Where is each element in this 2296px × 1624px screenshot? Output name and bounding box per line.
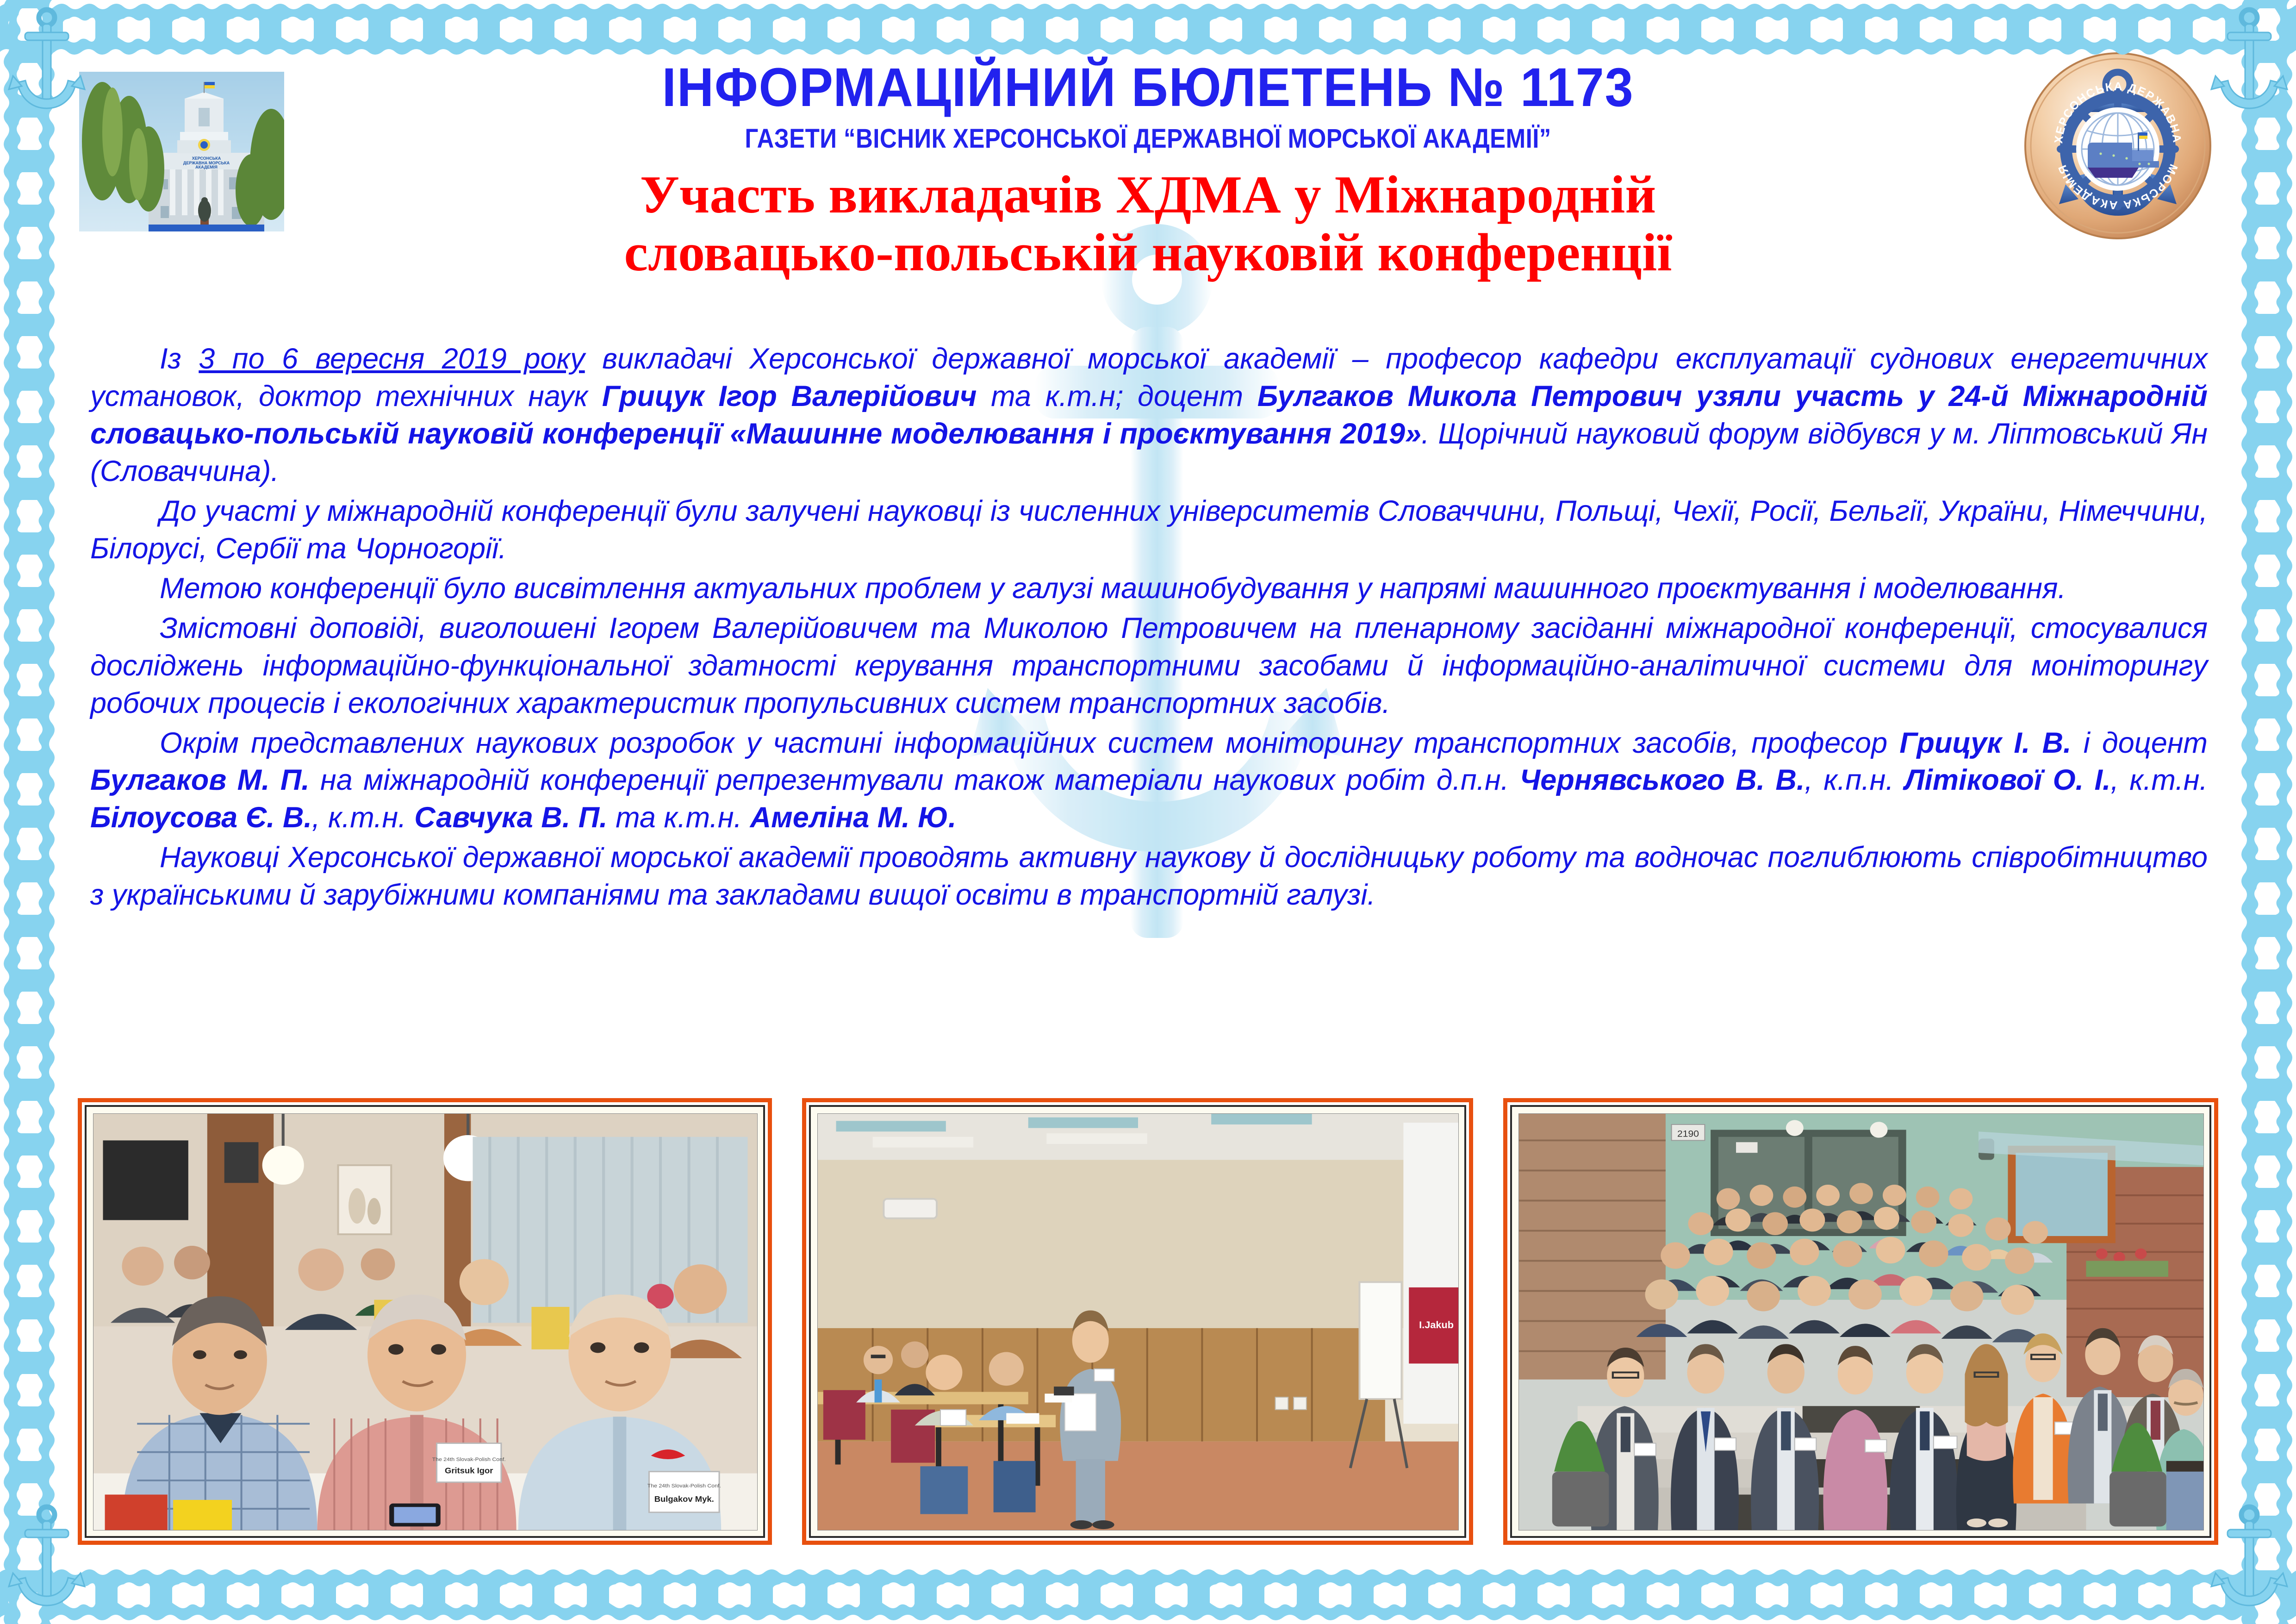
p5-person-chernyavskyi: Чернявського В. В. xyxy=(1520,764,1805,796)
svg-text:I.Jakub: I.Jakub xyxy=(1419,1319,1454,1330)
svg-text:The 24th Slovak-Polish Conf.: The 24th Slovak-Polish Conf. xyxy=(432,1456,506,1462)
p5-start: Окрім представлених наукових розробок у … xyxy=(160,727,1899,759)
p5-person-amelin: Амеліна М. Ю. xyxy=(750,801,957,834)
credit-rest: ЕДАКЦІЙНО-ВИДАВНИЧИЙ ВІДДІЛ xyxy=(1826,1590,2148,1611)
p5-m1: і доцент xyxy=(2072,727,2208,759)
credit-capital: Р xyxy=(1811,1587,1826,1612)
article-headline: Участь викладачів ХДМА у Міжнародній сло… xyxy=(296,166,2000,282)
bulletin-number-title: ІНФОРМАЦІЙНИЙ БЮЛЕТЕНЬ № 1173 xyxy=(356,60,1940,115)
p1-date-range: 3 по 6 вересня 2019 року xyxy=(199,343,585,375)
svg-text:ХЕРСОНСЬКА: ХЕРСОНСЬКА xyxy=(192,156,221,161)
p1-lead: Із xyxy=(160,343,199,375)
paragraph-5: Окрім представлених наукових розробок у … xyxy=(90,725,2208,837)
svg-text:The 24th Slovak-Polish Conf.: The 24th Slovak-Polish Conf. xyxy=(647,1483,721,1489)
p5-m6: та к.т.н. xyxy=(608,801,750,834)
paragraph-3: Метою конференції було висвітлення актуа… xyxy=(90,570,2208,607)
credit-abbreviation: ХДМА xyxy=(2148,1587,2214,1612)
article-body: Із 3 по 6 вересня 2019 року викладачі Хе… xyxy=(90,340,2208,916)
p5-person-bulgakov: Булгаков М. П. xyxy=(90,764,310,796)
bulletin-header: ХЕРСОНСЬКА ДЕРЖАВНА МОРСЬКА АКАДЕМІЯ xyxy=(0,0,2296,333)
p1-mid: та к.т.н; доцент xyxy=(977,380,1257,412)
paragraph-2: До участі у міжнародній конференції були… xyxy=(90,493,2208,568)
photo-three-participants: The 24th Slovak-Polish Conf. Gritsuk Igo… xyxy=(78,1098,772,1545)
p1-person-bulgakov: Булгаков Микола Петрович xyxy=(1257,380,1682,412)
academy-emblem-logo: ХЕРСОНСЬКА ДЕРЖАВНА МОРСЬКА АКАДЕМІЯ xyxy=(2023,51,2213,241)
p5-m3: , к.п.н. xyxy=(1804,764,1904,796)
paragraph-1: Із 3 по 6 вересня 2019 року викладачі Хе… xyxy=(90,340,2208,490)
p5-m2: на міжнародній конференції репрезентувал… xyxy=(310,764,1520,796)
academy-building-photo: ХЕРСОНСЬКА ДЕРЖАВНА МОРСЬКА АКАДЕМІЯ xyxy=(78,70,286,233)
p5-person-litikova: Літікової О. І. xyxy=(1904,764,2110,796)
paragraph-6: Науковці Херсонської державної морської … xyxy=(90,839,2208,914)
photo-gallery: The 24th Slovak-Polish Conf. Gritsuk Igo… xyxy=(78,1098,2218,1549)
p5-person-gritsuk: Грицук І. В. xyxy=(1899,727,2071,759)
p5-m5: , к.т.н. xyxy=(312,801,414,834)
p1-person-gritsuk: Грицук Ігор Валерійович xyxy=(602,380,977,412)
p5-person-bilousov: Білоусова Є. В. xyxy=(90,801,312,834)
newspaper-name-subtitle: ГАЗЕТИ “ВІСНИК ХЕРСОНСЬКОЇ ДЕРЖАВНОЇ МОР… xyxy=(398,123,1898,154)
svg-text:2190: 2190 xyxy=(1677,1130,1699,1139)
publisher-credit: РЕДАКЦІЙНО-ВИДАВНИЧИЙ ВІДДІЛ ХДМА xyxy=(1811,1587,2214,1612)
headline-line-1: Участь викладачів ХДМА у Міжнародній xyxy=(296,166,2000,224)
headline-line-2: словацько-польській науковій конференції xyxy=(296,224,2000,282)
svg-text:Gritsuk Igor: Gritsuk Igor xyxy=(445,1466,493,1475)
p5-person-savchuk: Савчука В. П. xyxy=(414,801,607,834)
svg-text:Bulgakov Myk.: Bulgakov Myk. xyxy=(654,1494,714,1503)
p5-m4: , к.т.н. xyxy=(2110,764,2208,796)
photo-group-portrait: 2190 xyxy=(1503,1098,2218,1545)
svg-text:АКАДЕМІЯ: АКАДЕМІЯ xyxy=(195,165,218,169)
photo-conference-room: I.Jakub xyxy=(802,1098,1473,1545)
paragraph-4: Змістовні доповіді, виголошені Ігорем Ва… xyxy=(90,610,2208,722)
